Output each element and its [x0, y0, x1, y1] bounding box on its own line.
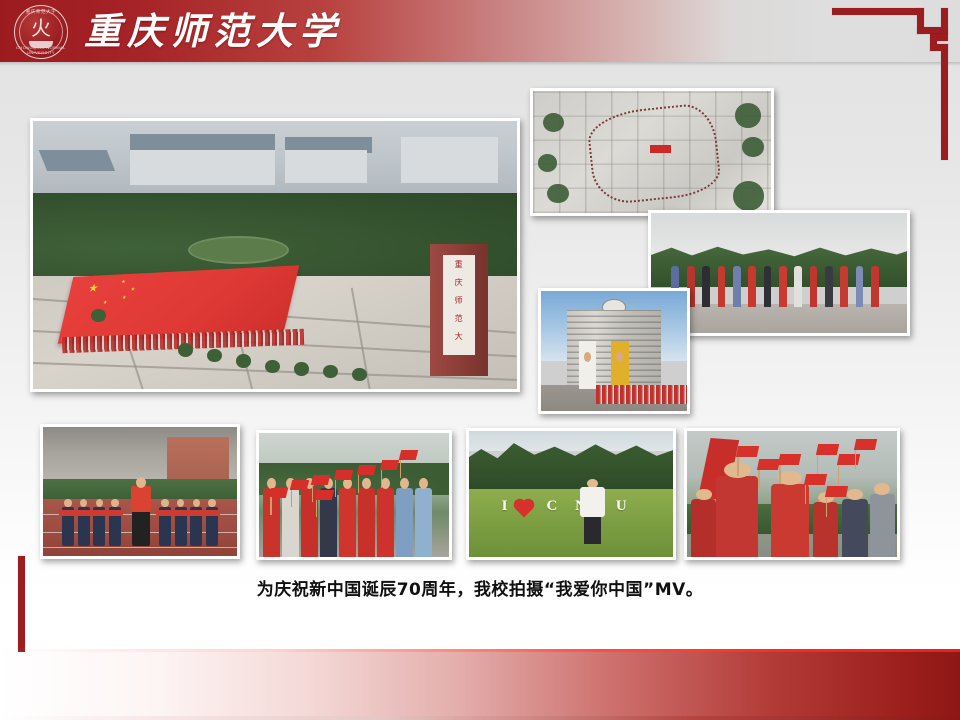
university-seal-icon: 重庆师范大学 火 CHONGQING NORMAL UNIVERSITY — [14, 5, 68, 59]
seal-flame-glyph: 火 — [15, 18, 67, 38]
seal-bottom-arc-text: CHONGQING NORMAL UNIVERSITY — [15, 45, 67, 55]
page-header: 重庆师范大学 火 CHONGQING NORMAL UNIVERSITY 重庆师… — [0, 0, 960, 62]
lawn-letter-c: C — [547, 499, 558, 514]
university-name-title: 重庆师范大学 — [84, 4, 342, 60]
page-footer — [0, 652, 960, 720]
campus-name-stone: 重 庆 师 范 大 — [430, 244, 488, 375]
seal-top-arc-text: 重庆师范大学 — [15, 9, 67, 15]
photo-students-waving-flags[interactable] — [256, 430, 452, 560]
photo-schoolchildren-on-track[interactable] — [40, 424, 240, 559]
corner-ornament-top-right — [832, 8, 948, 160]
photo-human-china-map[interactable] — [530, 88, 774, 216]
footer-bottom-edge — [0, 716, 960, 720]
photo-women-with-flags[interactable] — [684, 428, 900, 560]
slide-caption: 为庆祝新中国诞辰70周年，我校拍摄“我爱你中国”MV。 — [0, 578, 960, 602]
lawn-letter-i: I — [502, 499, 508, 514]
photo-aerial-campus-giant-flag[interactable]: ★ ★ ★ ★ ★ 重 庆 师 范 大 — [30, 118, 520, 392]
header-shadow — [0, 62, 960, 66]
slide-root: 重庆师范大学 火 CHONGQING NORMAL UNIVERSITY 重庆师… — [0, 0, 960, 720]
lawn-letter-u: U — [616, 499, 627, 514]
photo-i-love-cqnu-lawn[interactable]: I C N U — [466, 428, 676, 560]
photo-students-in-front-of-building[interactable] — [538, 288, 690, 414]
